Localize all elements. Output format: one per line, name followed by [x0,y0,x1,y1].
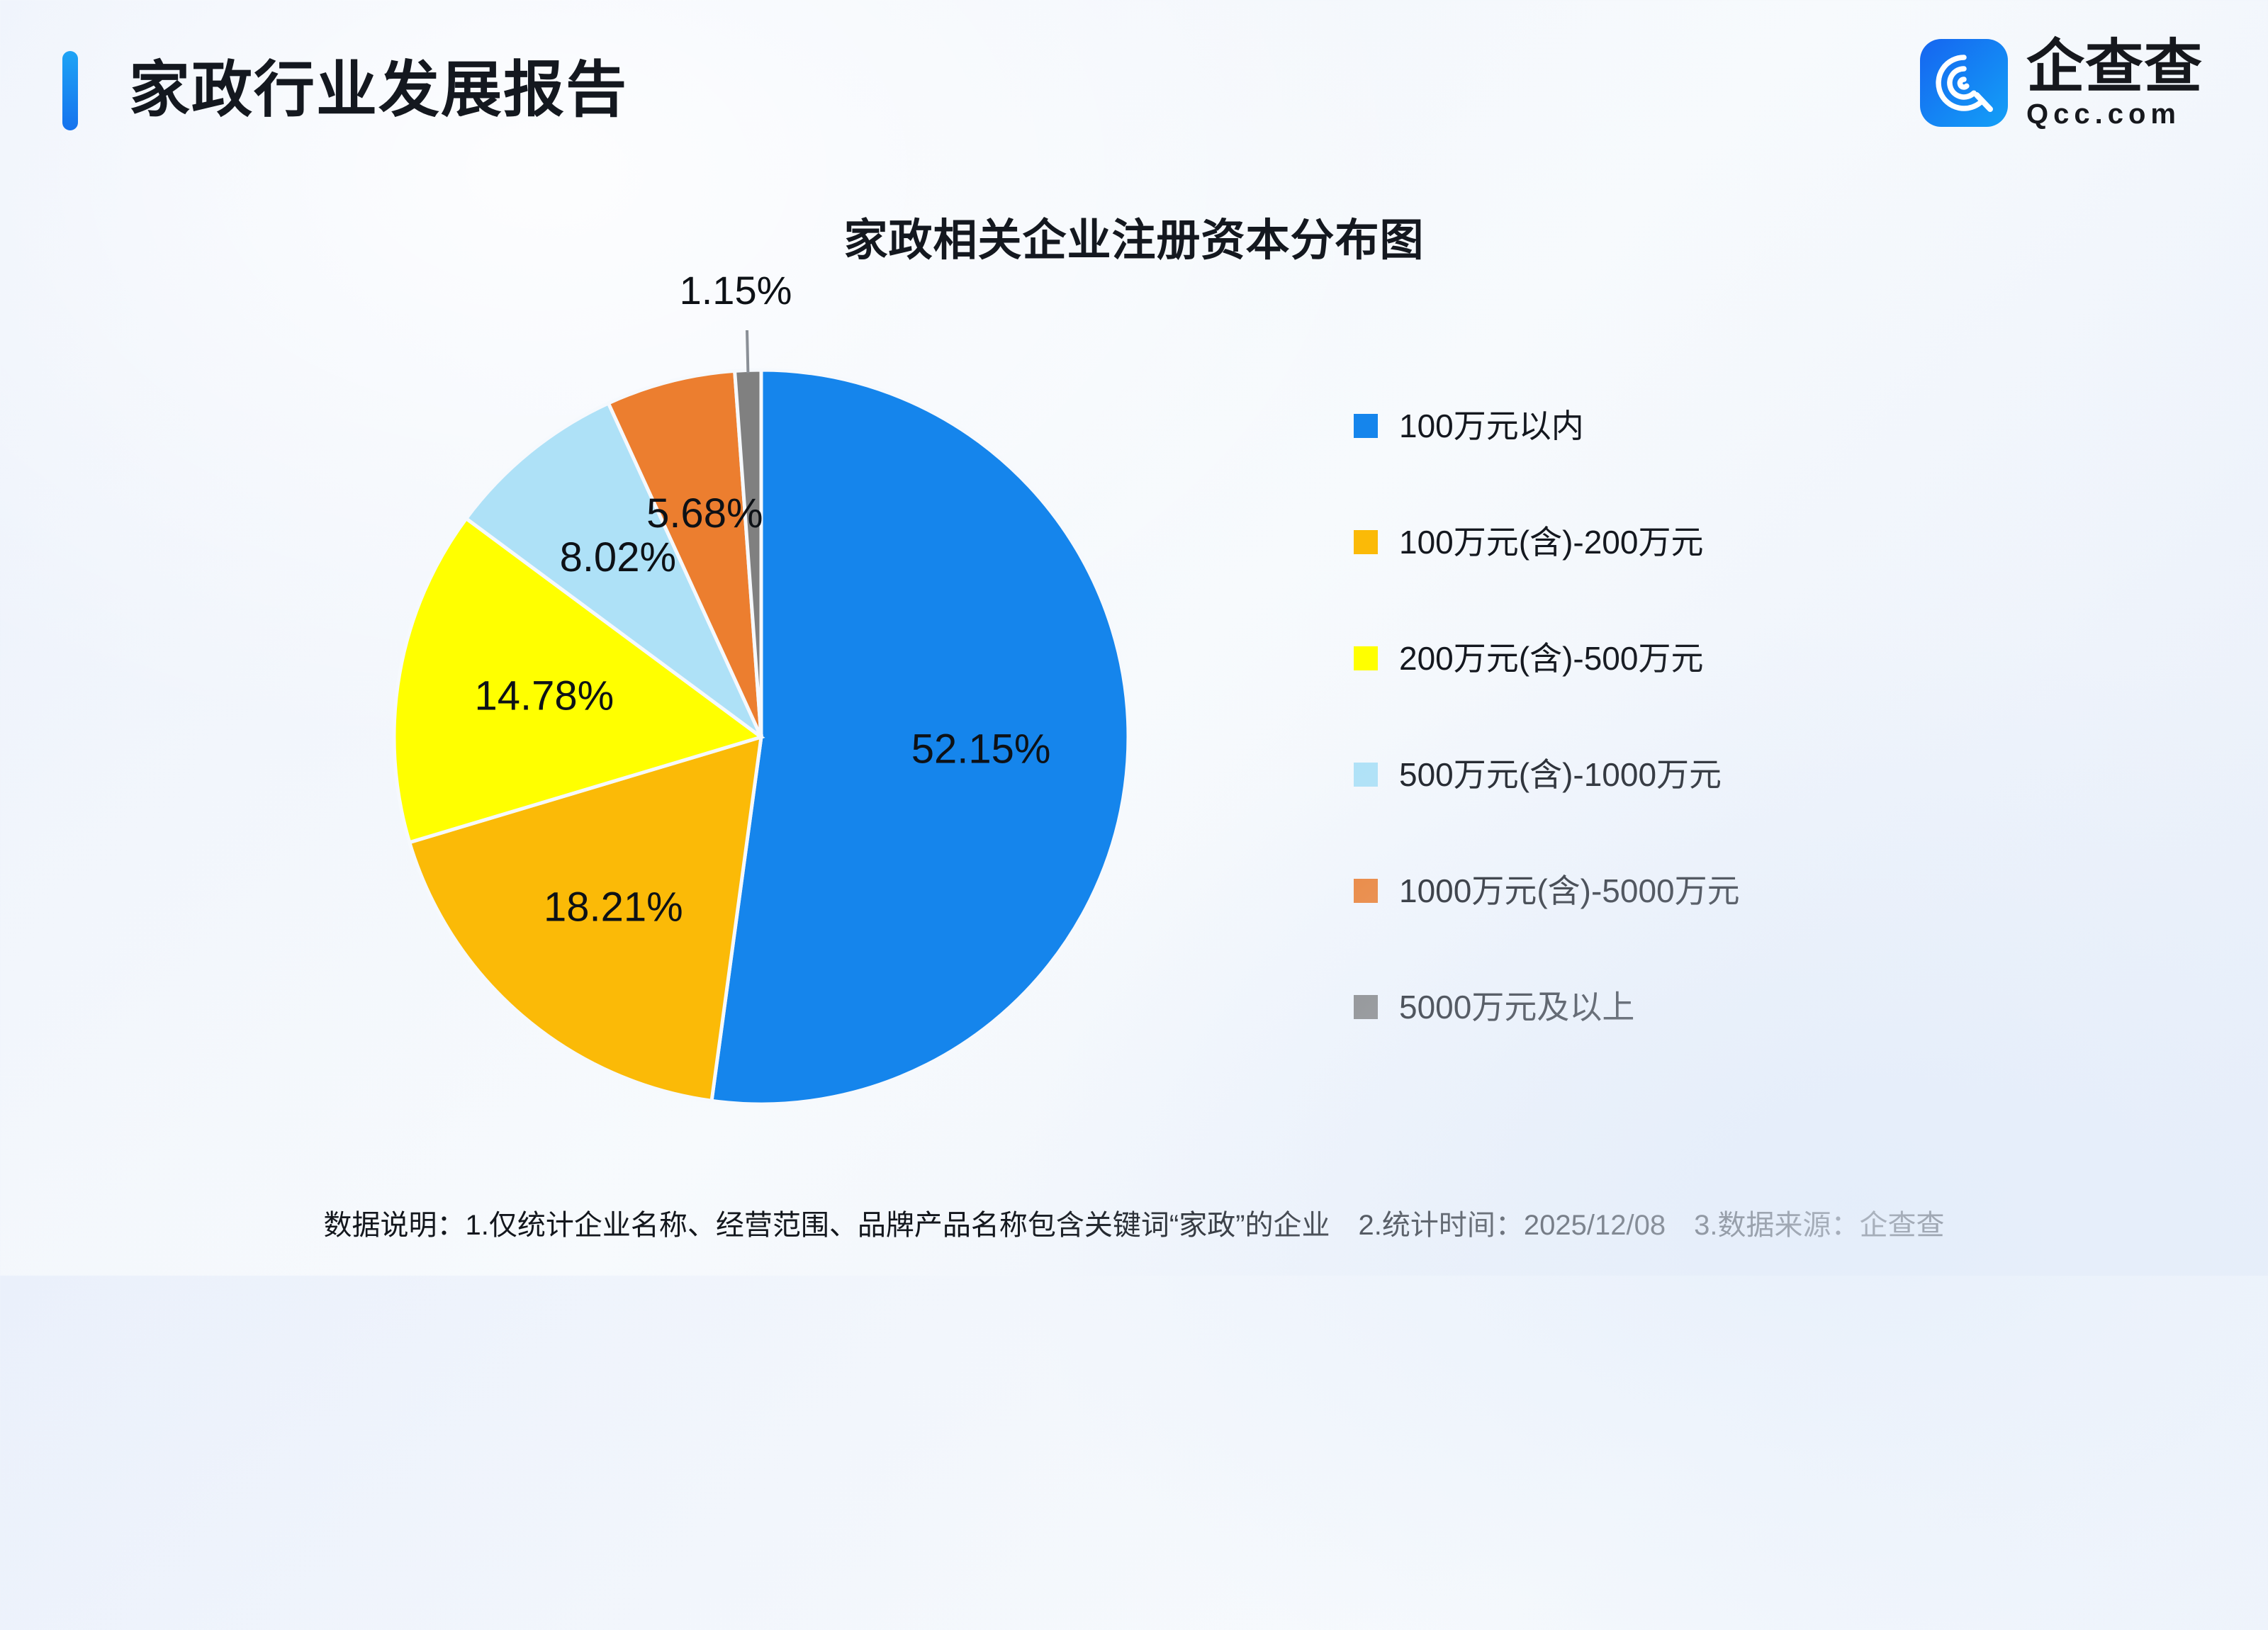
pie-leader-lines [747,330,748,373]
pie-chart-svg: 52.15%18.21%14.78%8.02%5.68%1.15% [0,269,1347,1162]
chart-legend: 100万元以内100万元(含)-200万元200万元(含)-500万元500万元… [1354,397,1992,1094]
legend-swatch [1354,530,1378,554]
title-accent-bar [62,51,78,130]
legend-label: 100万元(含)-200万元 [1399,524,1703,561]
legend-item[interactable]: 500万元(含)-1000万元 [1354,746,1992,804]
legend-label: 5000万元及以上 [1399,989,1634,1025]
legend-item[interactable]: 200万元(含)-500万元 [1354,629,1992,687]
pie-value-label: 52.15% [911,726,1051,772]
footnote: 数据说明：1.仅统计企业名称、经营范围、品牌产品名称包含关键词“家政”的企业 2… [0,1202,2268,1243]
pie-value-label: 18.21% [544,884,683,930]
chart-title: 家政相关企业注册资本分布图 [0,204,2268,268]
legend-label: 200万元(含)-500万元 [1399,640,1703,677]
pie-value-label: 8.02% [560,534,676,580]
legend-swatch [1354,763,1378,787]
pie-value-label: 5.68% [646,490,763,536]
pie-leader-line [747,330,748,373]
legend-swatch [1354,995,1378,1019]
legend-label: 500万元(含)-1000万元 [1399,756,1722,793]
legend-swatch [1354,646,1378,670]
legend-label: 100万元以内 [1399,407,1584,444]
brand-name-en: Qcc.com [2026,99,2203,130]
legend-label: 1000万元(含)-5000万元 [1399,872,1740,909]
qcc-logo-icon [1920,39,2008,127]
legend-swatch [1354,414,1378,438]
pie-value-label: 14.78% [475,673,614,719]
brand-wordmark: 企查查 Qcc.com [2026,36,2203,130]
pie-value-label: 1.15% [680,269,792,313]
legend-item[interactable]: 100万元(含)-200万元 [1354,513,1992,571]
page-header: 家政行业发展报告 企查查 Qcc.com [0,0,2268,163]
legend-item[interactable]: 100万元以内 [1354,397,1992,455]
pie-chart: 52.15%18.21%14.78%8.02%5.68%1.15% [0,269,1347,1162]
legend-swatch [1354,879,1378,903]
legend-item[interactable]: 1000万元(含)-5000万元 [1354,862,1992,920]
brand-logo: 企查查 Qcc.com [1920,30,2203,136]
page-title: 家政行业发展报告 [129,37,628,143]
brand-name-cn: 企查查 [2026,36,2203,99]
legend-item[interactable]: 5000万元及以上 [1354,978,1992,1036]
